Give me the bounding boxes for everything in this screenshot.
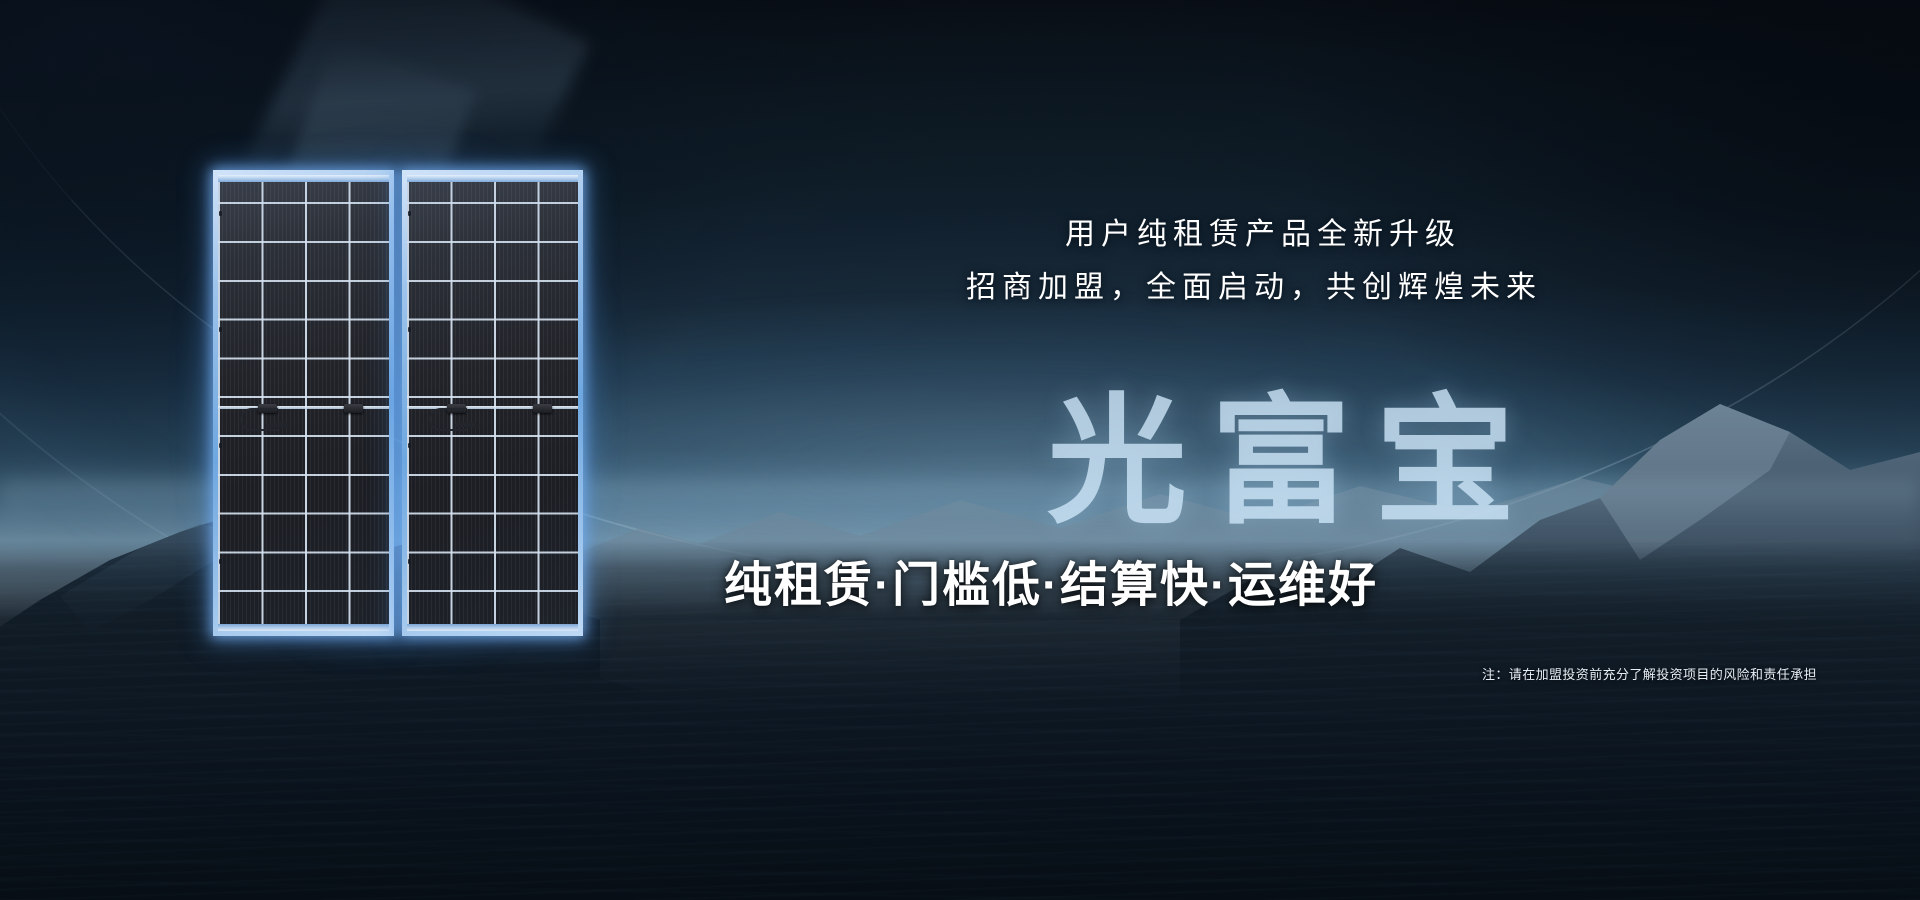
frame-screw bbox=[219, 559, 222, 564]
panel-cable-tip bbox=[455, 423, 477, 427]
panel-cable-tip bbox=[266, 423, 288, 427]
frame-screw bbox=[408, 559, 411, 564]
frame-screw bbox=[219, 443, 222, 448]
panel-cable bbox=[240, 408, 278, 431]
brand-name: 光富宝 bbox=[1047, 349, 1539, 551]
panel-rail-top-right bbox=[407, 175, 578, 182]
panel-sheen-left bbox=[218, 175, 389, 631]
promotional-banner: 用户纯租赁产品全新升级 招商加盟，全面启动，共创辉煌未来 光富宝 纯租赁·门槛低… bbox=[0, 0, 1920, 900]
panel-rail-bottom-right bbox=[407, 624, 578, 631]
headline-secondary: 招商加盟，全面启动，共创辉煌未来 bbox=[966, 262, 1542, 306]
frame-screw bbox=[408, 211, 411, 216]
frame-screw bbox=[219, 211, 222, 216]
solar-module-left bbox=[213, 170, 394, 636]
headline-primary: 用户纯租赁产品全新升级 bbox=[1065, 209, 1461, 253]
frame-screw bbox=[219, 327, 222, 332]
panel-busbar-left bbox=[218, 406, 389, 409]
frame-screw bbox=[408, 443, 411, 448]
junction-box bbox=[344, 404, 363, 413]
solar-panel bbox=[213, 170, 583, 636]
panel-rail-top-left bbox=[218, 175, 389, 182]
panel-cable bbox=[429, 408, 467, 431]
solar-module-right bbox=[402, 170, 583, 636]
disclaimer-note: 注：请在加盟投资前充分了解投资项目的风险和责任承担 bbox=[1482, 664, 1817, 683]
junction-box bbox=[533, 404, 552, 413]
panel-rail-bottom-left bbox=[218, 624, 389, 631]
frame-screw bbox=[408, 327, 411, 332]
panel-sheen-right bbox=[407, 175, 578, 631]
slogan-text: 纯租赁·门槛低·结算快·运维好 bbox=[724, 545, 1378, 615]
panel-busbar-right bbox=[407, 406, 578, 409]
